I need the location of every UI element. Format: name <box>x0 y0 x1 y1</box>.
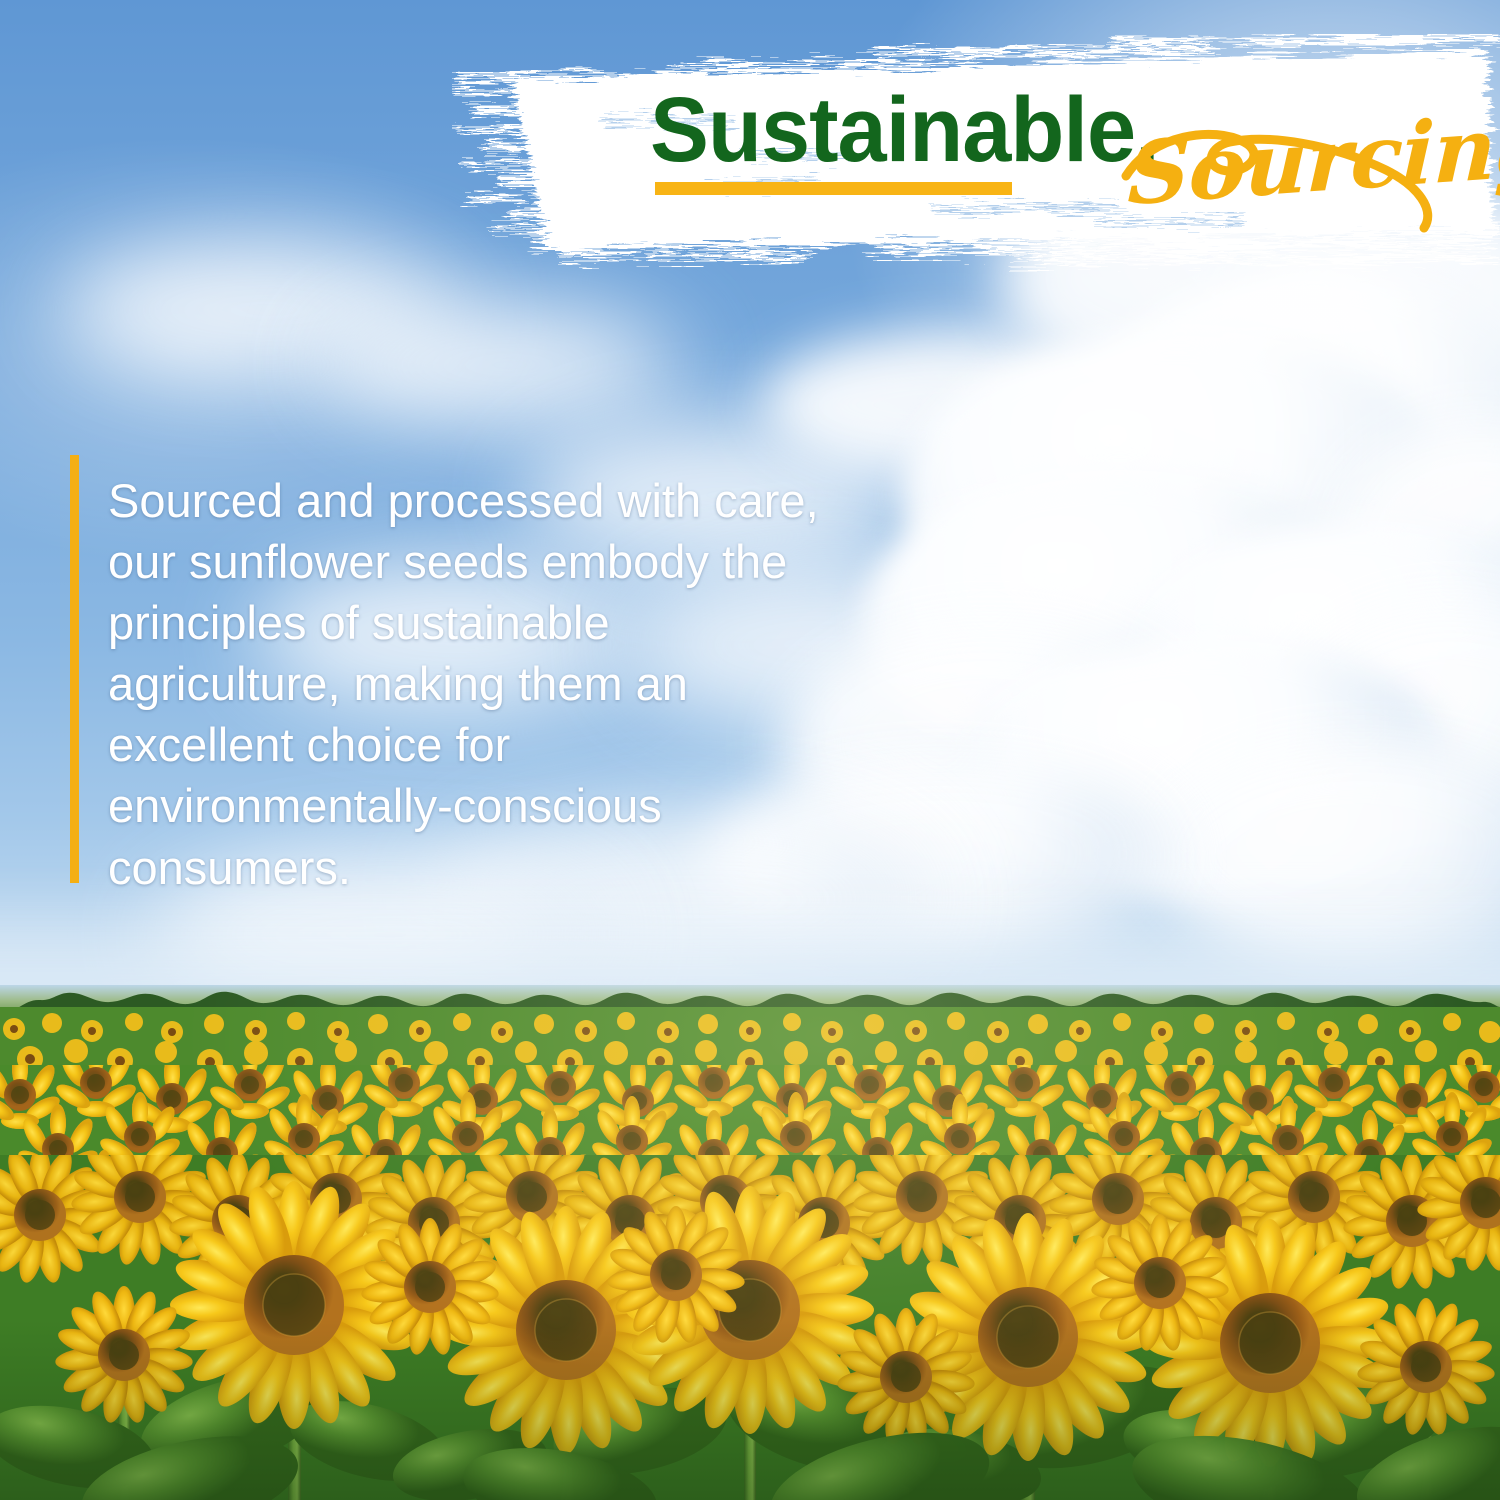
cloud-wisp <box>320 300 700 430</box>
body-copy-block: Sourced and processed with care, our sun… <box>108 470 848 898</box>
poster-canvas: Sustainable. Sourcing Sourced and proces… <box>0 0 1500 1500</box>
headline-sourcing-script: Sourcing <box>1126 102 1500 218</box>
sunflower-field <box>0 985 1500 1500</box>
gold-underline-rule <box>655 182 1012 195</box>
gold-accent-bar <box>70 455 79 883</box>
headline-sustainable: Sustainable. <box>650 84 1159 176</box>
near-flower-mass <box>0 1155 1500 1500</box>
headline-main-text: Sustainable <box>650 79 1135 181</box>
body-copy-text: Sourced and processed with care, our sun… <box>108 470 848 898</box>
